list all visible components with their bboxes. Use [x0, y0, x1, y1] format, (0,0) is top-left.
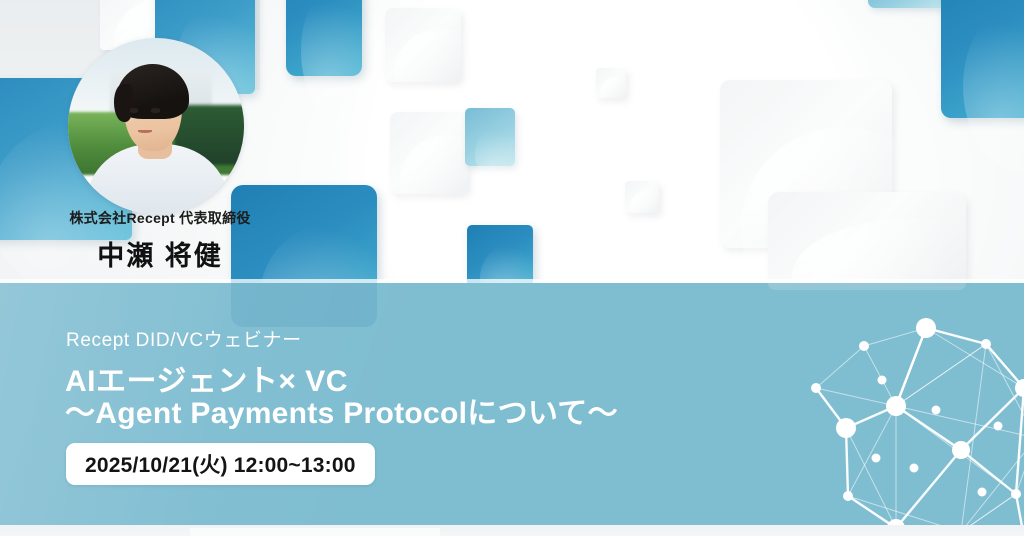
decorative-square-white-6	[768, 192, 966, 288]
speaker-role: 株式会社Recept 代表取締役	[0, 208, 320, 228]
date-text: 2025/10/21(火) 12:00~13:00	[85, 449, 356, 479]
avatar	[68, 38, 244, 214]
bottom-strip-highlight	[190, 528, 440, 536]
bottom-strip	[0, 525, 1024, 536]
decorative-square-blue-tall	[286, 0, 362, 76]
decorative-square-white-2	[390, 112, 468, 194]
eyebrow-text: Recept DID/VCウェビナー	[66, 325, 302, 352]
decorative-square-white-3	[596, 68, 626, 98]
webinar-banner: 株式会社Recept 代表取締役 中瀬 将健	[0, 0, 1024, 536]
decorative-square-blue-topright-light	[868, 0, 946, 8]
avatar-photo-hair-side	[114, 84, 133, 123]
speaker-name: 中瀬 将健	[0, 234, 320, 273]
decorative-square-blue-light	[465, 108, 515, 166]
decorative-square-blue-topright	[941, 0, 1024, 118]
speaker-caption: 株式会社Recept 代表取締役 中瀬 将健	[0, 208, 320, 273]
avatar-photo-eye-right	[151, 108, 160, 113]
band-square-overlay-right	[768, 283, 966, 290]
title-line-2: 〜Agent Payments Protocolについて〜	[65, 388, 618, 432]
date-badge: 2025/10/21(火) 12:00~13:00	[66, 443, 375, 485]
avatar-photo-eye-left	[130, 108, 139, 113]
decorative-square-white-1	[385, 8, 461, 82]
decorative-square-white-4	[625, 181, 659, 213]
